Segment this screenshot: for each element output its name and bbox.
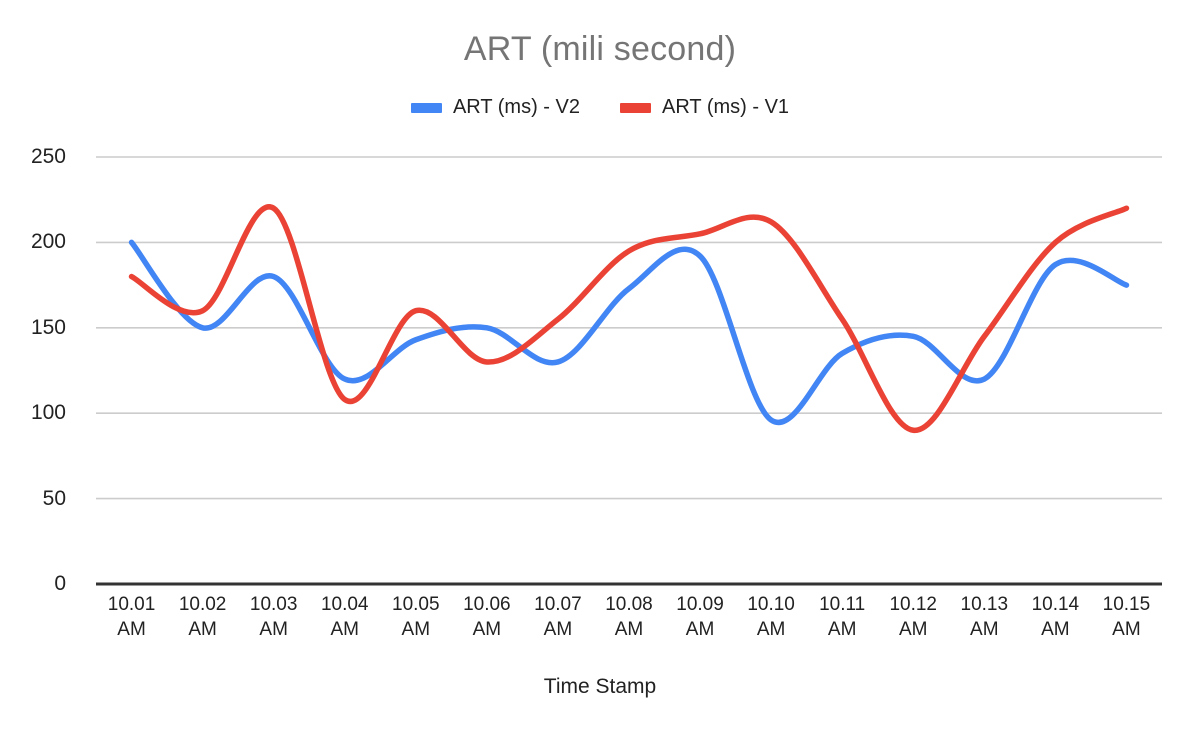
x-axis-tick-label: 10.04AM	[309, 592, 380, 654]
x-axis-tick-label: 10.02AM	[167, 592, 238, 654]
x-axis-tick-label: 10.14AM	[1020, 592, 1091, 654]
series-line-v1[interactable]	[132, 207, 1127, 431]
y-axis-tick-label: 250	[0, 145, 80, 169]
chart-legend: ART (ms) - V2 ART (ms) - V1	[0, 96, 1200, 119]
legend-item-v2[interactable]: ART (ms) - V2	[411, 96, 580, 119]
plot-area	[96, 157, 1162, 584]
x-axis-tick-label: 10.05AM	[380, 592, 451, 654]
legend-item-label: ART (ms) - V1	[662, 96, 789, 119]
x-axis-tick-label: 10.11AM	[807, 592, 878, 654]
x-axis-tick-label: 10.01AM	[96, 592, 167, 654]
chart-title: ART (mili second)	[0, 30, 1200, 69]
legend-item-label: ART (ms) - V2	[453, 96, 580, 119]
x-axis-tick-label: 10.09AM	[665, 592, 736, 654]
x-axis-tick-label: 10.03AM	[238, 592, 309, 654]
line-chart: ART (mili second) ART (ms) - V2 ART (ms)…	[0, 0, 1200, 742]
x-axis-tick-label: 10.13AM	[949, 592, 1020, 654]
x-axis-title: Time Stamp	[0, 675, 1200, 699]
y-axis: 050100150200250	[0, 157, 80, 584]
x-axis-tick-label: 10.08AM	[593, 592, 664, 654]
x-axis-tick-label: 10.10AM	[736, 592, 807, 654]
series-line-v2[interactable]	[132, 242, 1127, 422]
x-axis: 10.01AM10.02AM10.03AM10.04AM10.05AM10.06…	[96, 592, 1162, 654]
y-axis-tick-label: 50	[0, 487, 80, 511]
y-axis-tick-label: 150	[0, 316, 80, 340]
y-axis-tick-label: 200	[0, 230, 80, 254]
legend-color-swatch-icon	[620, 103, 651, 113]
legend-color-swatch-icon	[411, 103, 442, 113]
x-axis-tick-label: 10.06AM	[451, 592, 522, 654]
y-axis-tick-label: 0	[0, 572, 80, 596]
plot-svg	[96, 157, 1162, 584]
x-axis-tick-label: 10.15AM	[1091, 592, 1162, 654]
legend-item-v1[interactable]: ART (ms) - V1	[620, 96, 789, 119]
y-axis-tick-label: 100	[0, 401, 80, 425]
x-axis-tick-label: 10.12AM	[878, 592, 949, 654]
x-axis-tick-label: 10.07AM	[522, 592, 593, 654]
